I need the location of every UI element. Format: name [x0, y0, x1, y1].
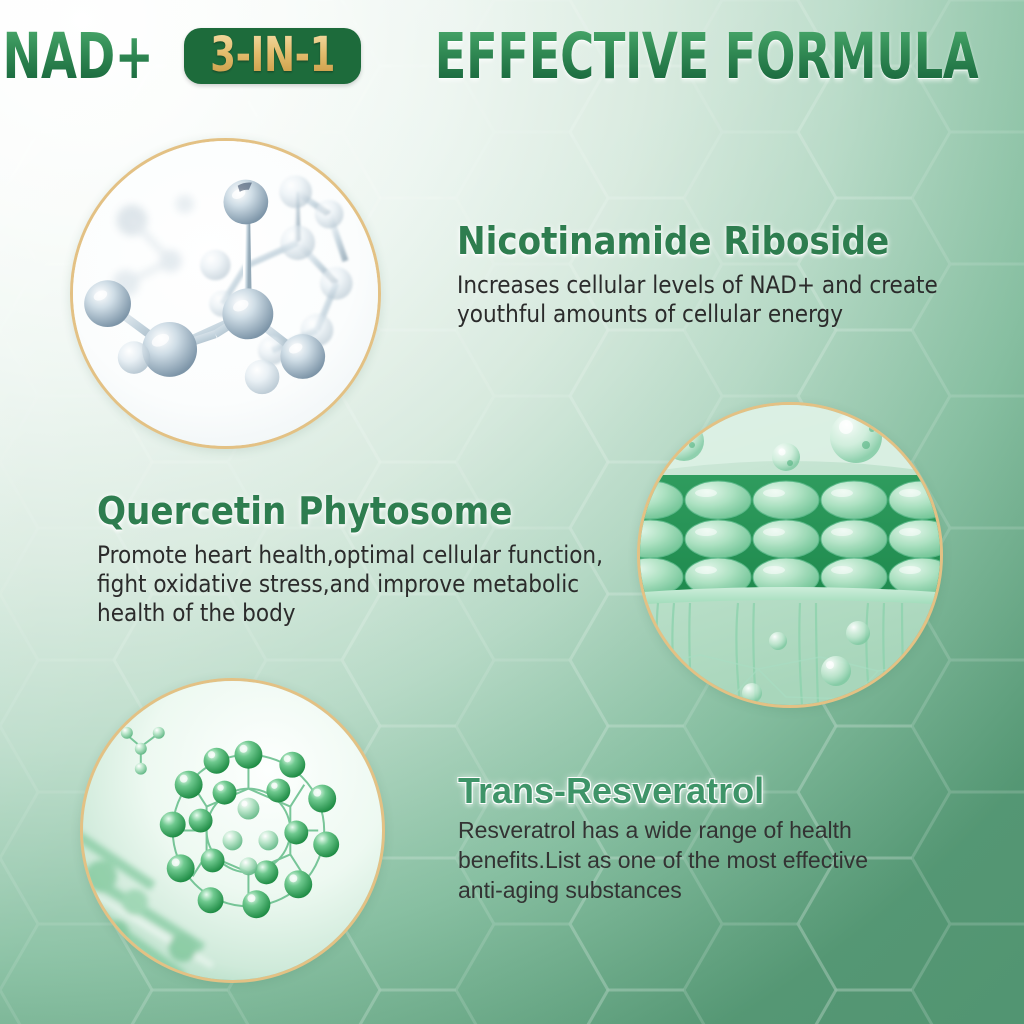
- header-prefix-nad: NAD+: [3, 25, 154, 88]
- fullerene-molecule-image: [80, 678, 385, 983]
- header-suffix-effective-formula: EFFECTIVE FORMULA: [435, 25, 979, 88]
- section-title: Quercetin Phytosome: [97, 492, 637, 532]
- body-line: Resveratrol has a wide range of health: [458, 816, 978, 846]
- phytosome-membrane-image: [637, 402, 943, 708]
- badge-3-in-1: 3-IN-1: [184, 28, 361, 84]
- section-trans-resveratrol: Trans-Resveratrol Resveratrol has a wide…: [458, 772, 978, 905]
- body-line: benefits.List as one of the most effecti…: [458, 846, 978, 876]
- body-line: anti-aging substances: [458, 876, 978, 906]
- body-line: Increases cellular levels of NAD+ and cr…: [457, 271, 977, 300]
- section-body: Increases cellular levels of NAD+ and cr…: [457, 271, 977, 330]
- section-body: Promote heart health,optimal cellular fu…: [97, 541, 637, 629]
- molecule-structure-image: [70, 138, 381, 449]
- body-line: Promote heart health,optimal cellular fu…: [97, 541, 637, 570]
- body-line: health of the body: [97, 599, 637, 628]
- section-quercetin-phytosome: Quercetin Phytosome Promote heart health…: [97, 492, 637, 629]
- badge-label: 3-IN-1: [210, 31, 335, 79]
- section-nicotinamide-riboside: Nicotinamide Riboside Increases cellular…: [457, 222, 977, 329]
- header-banner: NAD+ 3-IN-1 EFFECTIVE FORMULA: [0, 16, 1024, 96]
- section-title: Trans-Resveratrol: [458, 772, 978, 810]
- body-line: youthful amounts of cellular energy: [457, 300, 977, 329]
- infographic-canvas: NAD+ 3-IN-1 EFFECTIVE FORMULA: [0, 0, 1024, 1024]
- body-line: fight oxidative stress,and improve metab…: [97, 570, 637, 599]
- section-title: Nicotinamide Riboside: [457, 222, 977, 262]
- section-body: Resveratrol has a wide range of health b…: [458, 816, 978, 906]
